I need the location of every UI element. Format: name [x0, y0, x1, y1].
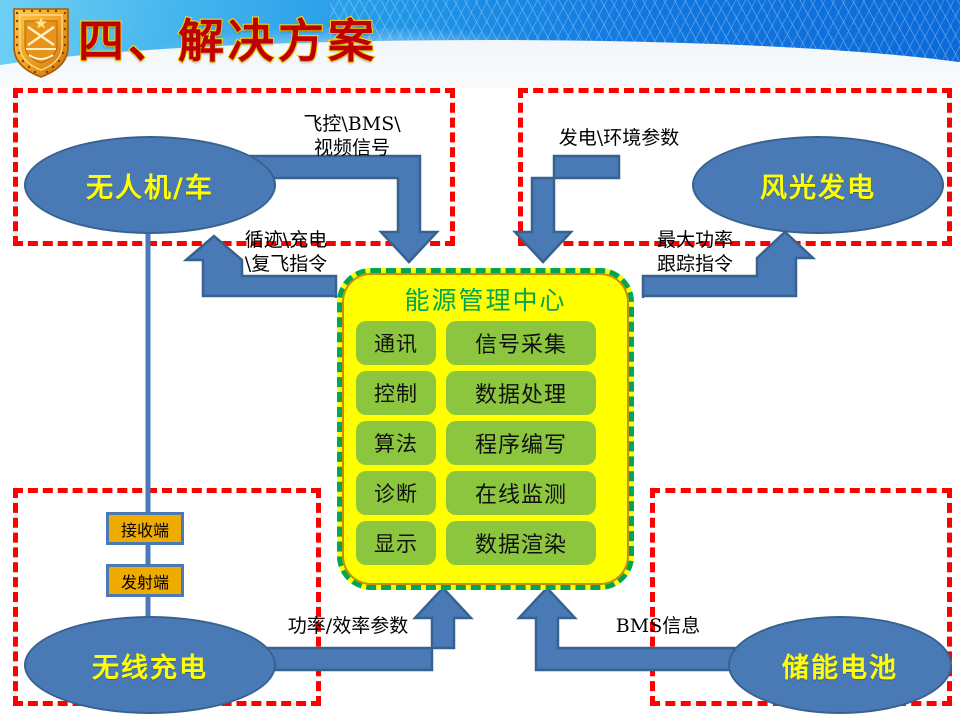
slide-canvas: 四、解决方案 无 — [0, 0, 960, 720]
node-receiver[interactable]: 接收端 — [106, 512, 184, 545]
center-module-grid: 通讯 控制 算法 诊断 显示 信号采集 数据处理 程序编写 在线监测 数据渲染 — [356, 321, 624, 565]
edge-label-uav-to-center: 飞控\BMS\ 视频信号 — [272, 112, 432, 160]
node-transmitter-label: 发射端 — [121, 569, 169, 593]
module-online-monitoring[interactable]: 在线监测 — [446, 471, 596, 515]
edge-label-wireless-to-center: 功率/效率参数 — [258, 614, 438, 638]
module-programming[interactable]: 程序编写 — [446, 421, 596, 465]
slide-header: 四、解决方案 — [0, 0, 960, 88]
edge-label-center-to-uav: 循迹\充电 \复飞指令 — [206, 228, 366, 276]
node-solar-wind-label: 风光发电 — [760, 166, 876, 205]
edge-label-battery-to-center: BMS信息 — [588, 614, 728, 638]
module-diagnosis[interactable]: 诊断 — [356, 471, 436, 515]
node-receiver-label: 接收端 — [121, 517, 169, 541]
page-title: 四、解决方案 — [78, 6, 378, 76]
edge-label-solar-to-center: 发电\环境参数 — [524, 126, 714, 150]
module-data-processing[interactable]: 数据处理 — [446, 371, 596, 415]
node-solar-wind[interactable]: 风光发电 — [692, 136, 944, 234]
module-column-right: 信号采集 数据处理 程序编写 在线监测 数据渲染 — [446, 321, 596, 565]
module-control[interactable]: 控制 — [356, 371, 436, 415]
energy-management-center-panel[interactable]: 能源管理中心 通讯 控制 算法 诊断 显示 信号采集 数据处理 程序编写 在线监… — [337, 268, 634, 590]
node-uav-label: 无人机/车 — [86, 166, 214, 205]
node-uav[interactable]: 无人机/车 — [24, 136, 276, 234]
node-wireless-charging-label: 无线充电 — [92, 646, 208, 685]
university-shield-icon — [10, 5, 72, 79]
node-transmitter[interactable]: 发射端 — [106, 564, 184, 597]
node-storage-battery-label: 储能电池 — [782, 646, 898, 685]
edge-label-center-to-solar: 最大功率 跟踪指令 — [630, 228, 760, 276]
module-column-left: 通讯 控制 算法 诊断 显示 — [356, 321, 436, 565]
module-algorithm[interactable]: 算法 — [356, 421, 436, 465]
node-storage-battery[interactable]: 储能电池 — [728, 616, 952, 714]
center-panel-title: 能源管理中心 — [342, 281, 629, 317]
node-wireless-charging[interactable]: 无线充电 — [24, 616, 276, 714]
module-data-rendering[interactable]: 数据渲染 — [446, 521, 596, 565]
module-display[interactable]: 显示 — [356, 521, 436, 565]
module-communication[interactable]: 通讯 — [356, 321, 436, 365]
module-signal-acquisition[interactable]: 信号采集 — [446, 321, 596, 365]
